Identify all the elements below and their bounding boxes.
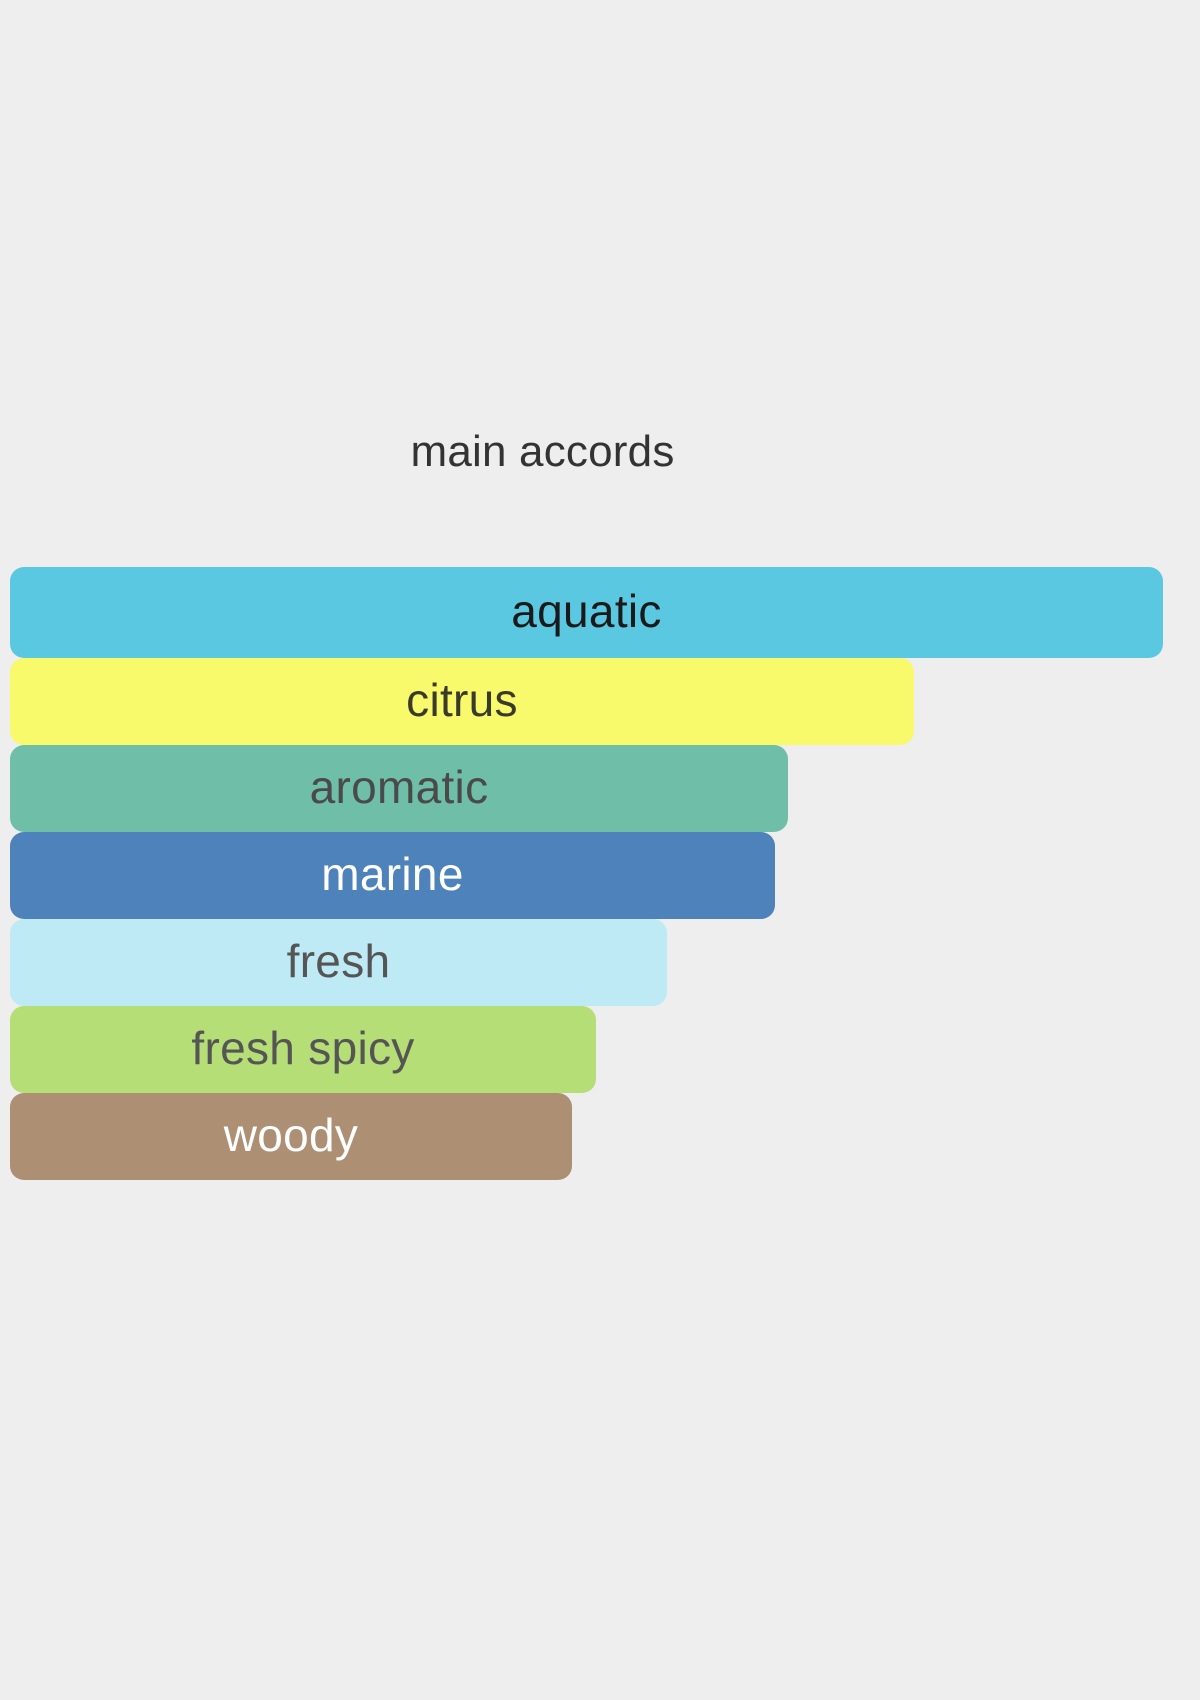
page-title: main accords xyxy=(0,430,1085,474)
accord-bar[interactable]: citrus xyxy=(10,658,914,745)
accord-bar-label: fresh xyxy=(287,938,391,988)
accord-bar-label: aquatic xyxy=(511,588,661,638)
accord-bar-label: aromatic xyxy=(310,764,489,814)
accord-bar-label: woody xyxy=(224,1112,358,1162)
accord-bar-label: citrus xyxy=(406,677,518,727)
accord-bar-label: fresh spicy xyxy=(191,1025,414,1075)
accord-bar[interactable]: fresh xyxy=(10,919,667,1006)
accord-bar[interactable]: fresh spicy xyxy=(10,1006,596,1093)
accord-bar[interactable]: woody xyxy=(10,1093,572,1180)
accord-bar-list: aquaticcitrusaromaticmarinefreshfresh sp… xyxy=(10,567,1190,1180)
accord-bar[interactable]: aromatic xyxy=(10,745,788,832)
main-accords-widget: main accords aquaticcitrusaromaticmarine… xyxy=(0,0,1200,1700)
accord-bar[interactable]: aquatic xyxy=(10,567,1163,658)
accord-bar-label: marine xyxy=(321,851,463,901)
accord-bar[interactable]: marine xyxy=(10,832,775,919)
